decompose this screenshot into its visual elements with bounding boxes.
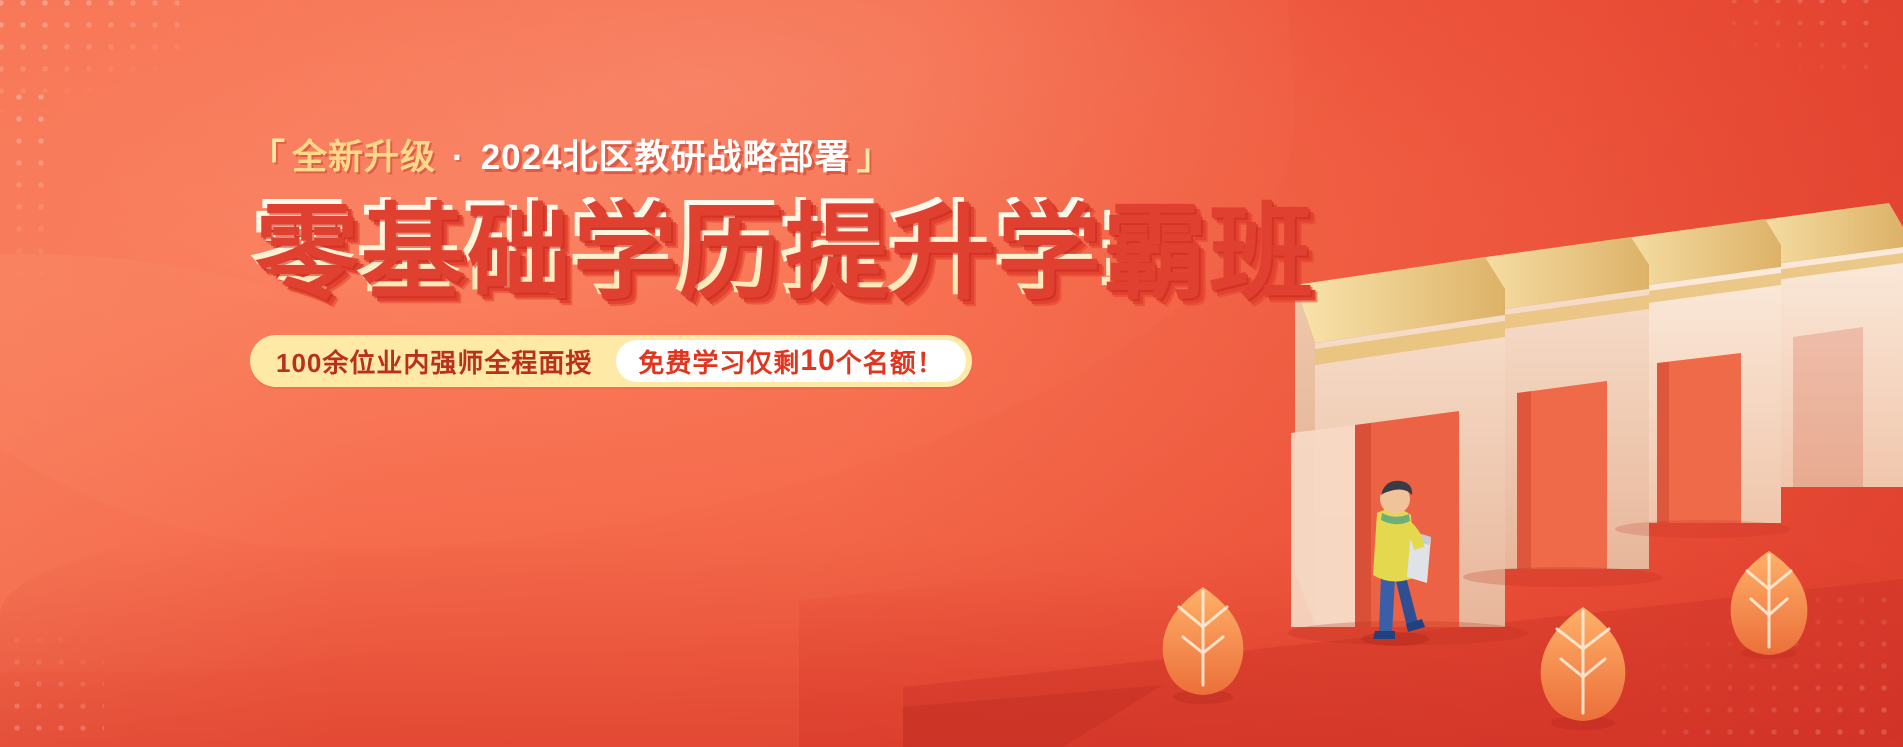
offer-pill: 100余位业内强师全程面授 免费学习仅剩10个名额！ xyxy=(250,335,972,387)
offer-pill-label: 100余位业内强师全程面授 xyxy=(276,343,616,380)
dot-pattern-top-right xyxy=(1723,0,1873,80)
eyebrow-separator: · xyxy=(442,140,475,175)
eyebrow-gold-text: 全新升级 xyxy=(292,140,436,175)
eyebrow-close-bracket: 」 xyxy=(857,140,893,175)
promo-banner: 「 全新升级 · 2024北区教研战略部署 」 零基础学历提升学霸班 100余位… xyxy=(0,0,1903,747)
dot-pattern-bottom-left xyxy=(0,607,104,747)
seats-count: 10 xyxy=(800,344,835,378)
seats-remaining-badge: 免费学习仅剩10个名额！ xyxy=(616,340,965,382)
eyebrow-white-text: 2024北区教研战略部署 xyxy=(481,140,851,175)
copy-block: 「 全新升级 · 2024北区教研战略部署 」 零基础学历提升学霸班 100余位… xyxy=(250,140,1110,387)
page-title: 零基础学历提升学霸班 xyxy=(250,197,1110,301)
eyebrow-open-bracket: 「 xyxy=(250,140,286,175)
eyebrow-line: 「 全新升级 · 2024北区教研战略部署 」 xyxy=(250,140,1110,175)
seats-suffix: 个名额！ xyxy=(836,343,944,380)
dot-pattern-left xyxy=(0,86,56,326)
dot-pattern-bottom-right xyxy=(1653,589,1903,747)
seats-prefix: 免费学习仅剩 xyxy=(638,343,800,380)
